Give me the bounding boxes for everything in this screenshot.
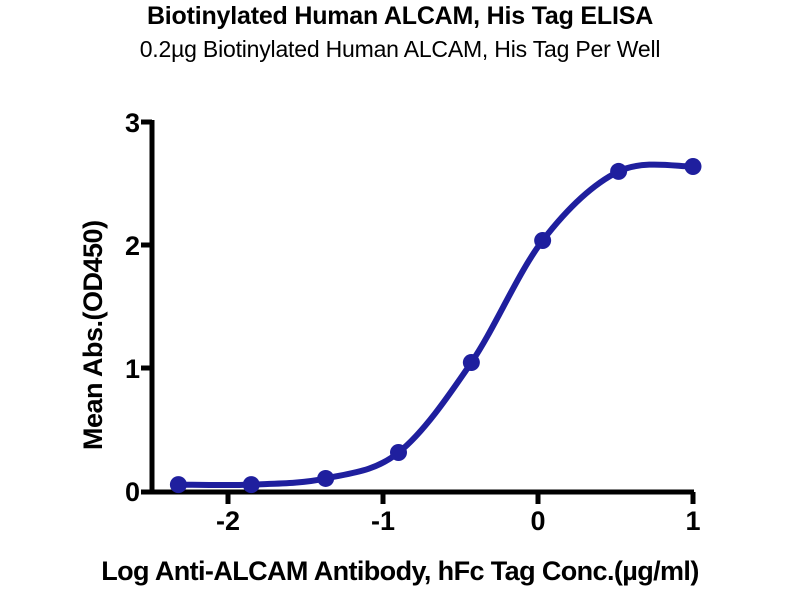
data-point xyxy=(534,232,551,249)
plot-area xyxy=(0,0,800,600)
data-series-markers xyxy=(170,158,702,493)
data-series-line xyxy=(178,165,693,485)
data-point xyxy=(170,476,187,493)
data-point xyxy=(243,476,260,493)
data-point xyxy=(463,354,480,371)
data-point xyxy=(610,163,627,180)
data-point xyxy=(685,158,702,175)
data-point xyxy=(390,444,407,461)
chart-page: Biotinylated Human ALCAM, His Tag ELISA … xyxy=(0,0,800,600)
data-point xyxy=(317,470,334,487)
